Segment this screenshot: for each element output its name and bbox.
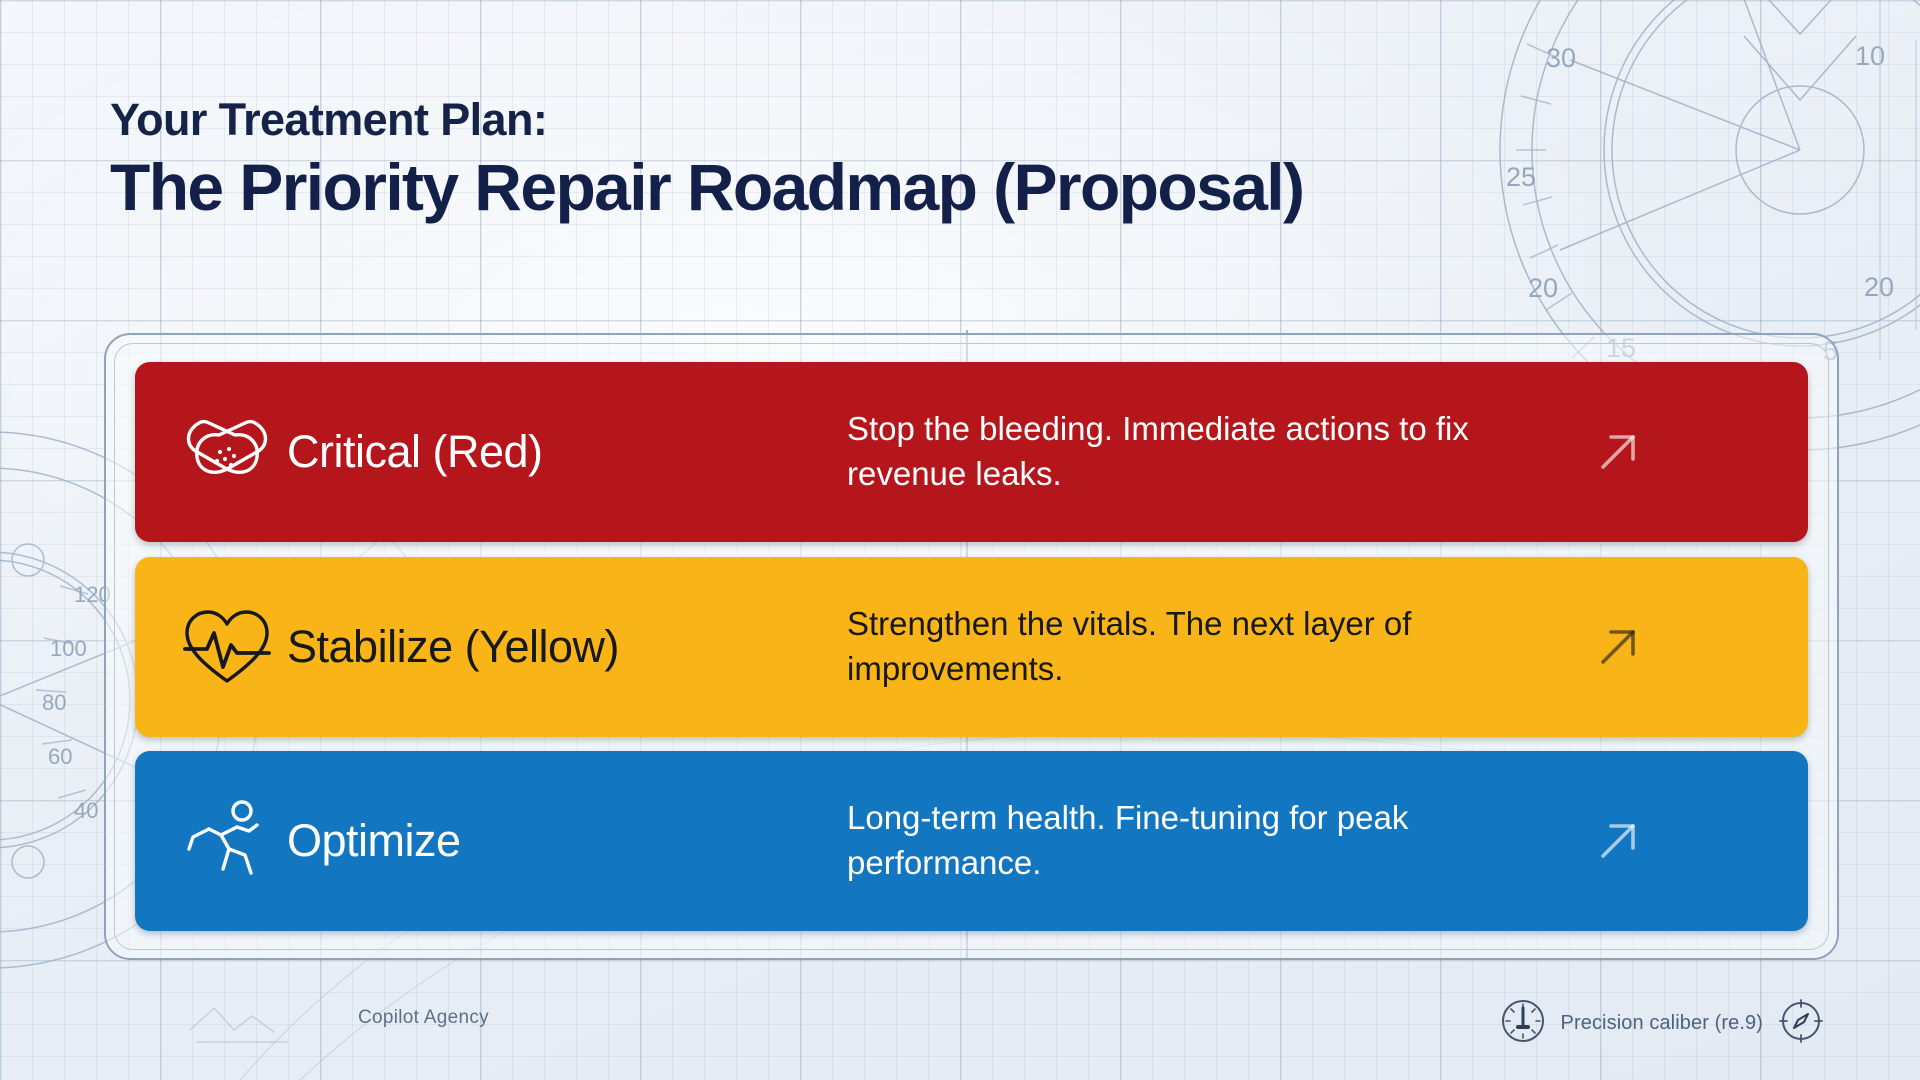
footer-meta: Precision caliber (re.9) (1500, 998, 1824, 1049)
title-kicker: Your Treatment Plan: (110, 95, 1810, 145)
row-description-optimize: Long-term health. Fine-tuning for peak p… (847, 796, 1537, 886)
row-description-critical: Stop the bleeding. Immediate actions to … (847, 407, 1537, 497)
roadmap-row-stabilize[interactable]: Stabilize (Yellow) Strengthen the vitals… (135, 557, 1808, 737)
row-label-stabilize: Stabilize (Yellow) (287, 621, 847, 673)
compass-icon (1778, 998, 1824, 1049)
running-person-icon (179, 797, 287, 885)
arrow-up-right-icon[interactable] (1537, 812, 1647, 870)
arrow-up-right-icon[interactable] (1537, 618, 1647, 676)
page-title-block: Your Treatment Plan: The Priority Repair… (110, 95, 1810, 224)
svg-text:100: 100 (50, 636, 87, 661)
row-label-critical: Critical (Red) (287, 426, 847, 478)
gauge-dial-icon (1500, 998, 1546, 1049)
svg-text:20: 20 (1864, 272, 1894, 302)
arrow-up-right-icon[interactable] (1537, 423, 1647, 481)
svg-text:60: 60 (48, 744, 72, 769)
roadmap-row-critical[interactable]: Critical (Red) Stop the bleeding. Immedi… (135, 362, 1808, 542)
svg-text:80: 80 (42, 690, 66, 715)
footer-caliber-label: Precision caliber (re.9) (1561, 1012, 1763, 1035)
roadmap-row-optimize[interactable]: Optimize Long-term health. Fine-tuning f… (135, 751, 1808, 931)
svg-text:30: 30 (1546, 43, 1576, 73)
footer-brand: Copilot Agency (358, 1007, 489, 1029)
page-title: The Priority Repair Roadmap (Proposal) (110, 151, 1810, 225)
heart-pulse-icon (179, 605, 287, 689)
svg-text:40: 40 (74, 798, 98, 823)
roadmap-frame: Critical (Red) Stop the bleeding. Immedi… (104, 333, 1839, 960)
row-description-stabilize: Strengthen the vitals. The next layer of… (847, 602, 1537, 692)
footer-sketch (190, 1008, 288, 1042)
bandage-icon (179, 413, 287, 491)
row-label-optimize: Optimize (287, 815, 847, 867)
roadmap-inner-frame: Critical (Red) Stop the bleeding. Immedi… (114, 343, 1829, 950)
svg-text:20: 20 (1528, 273, 1558, 303)
